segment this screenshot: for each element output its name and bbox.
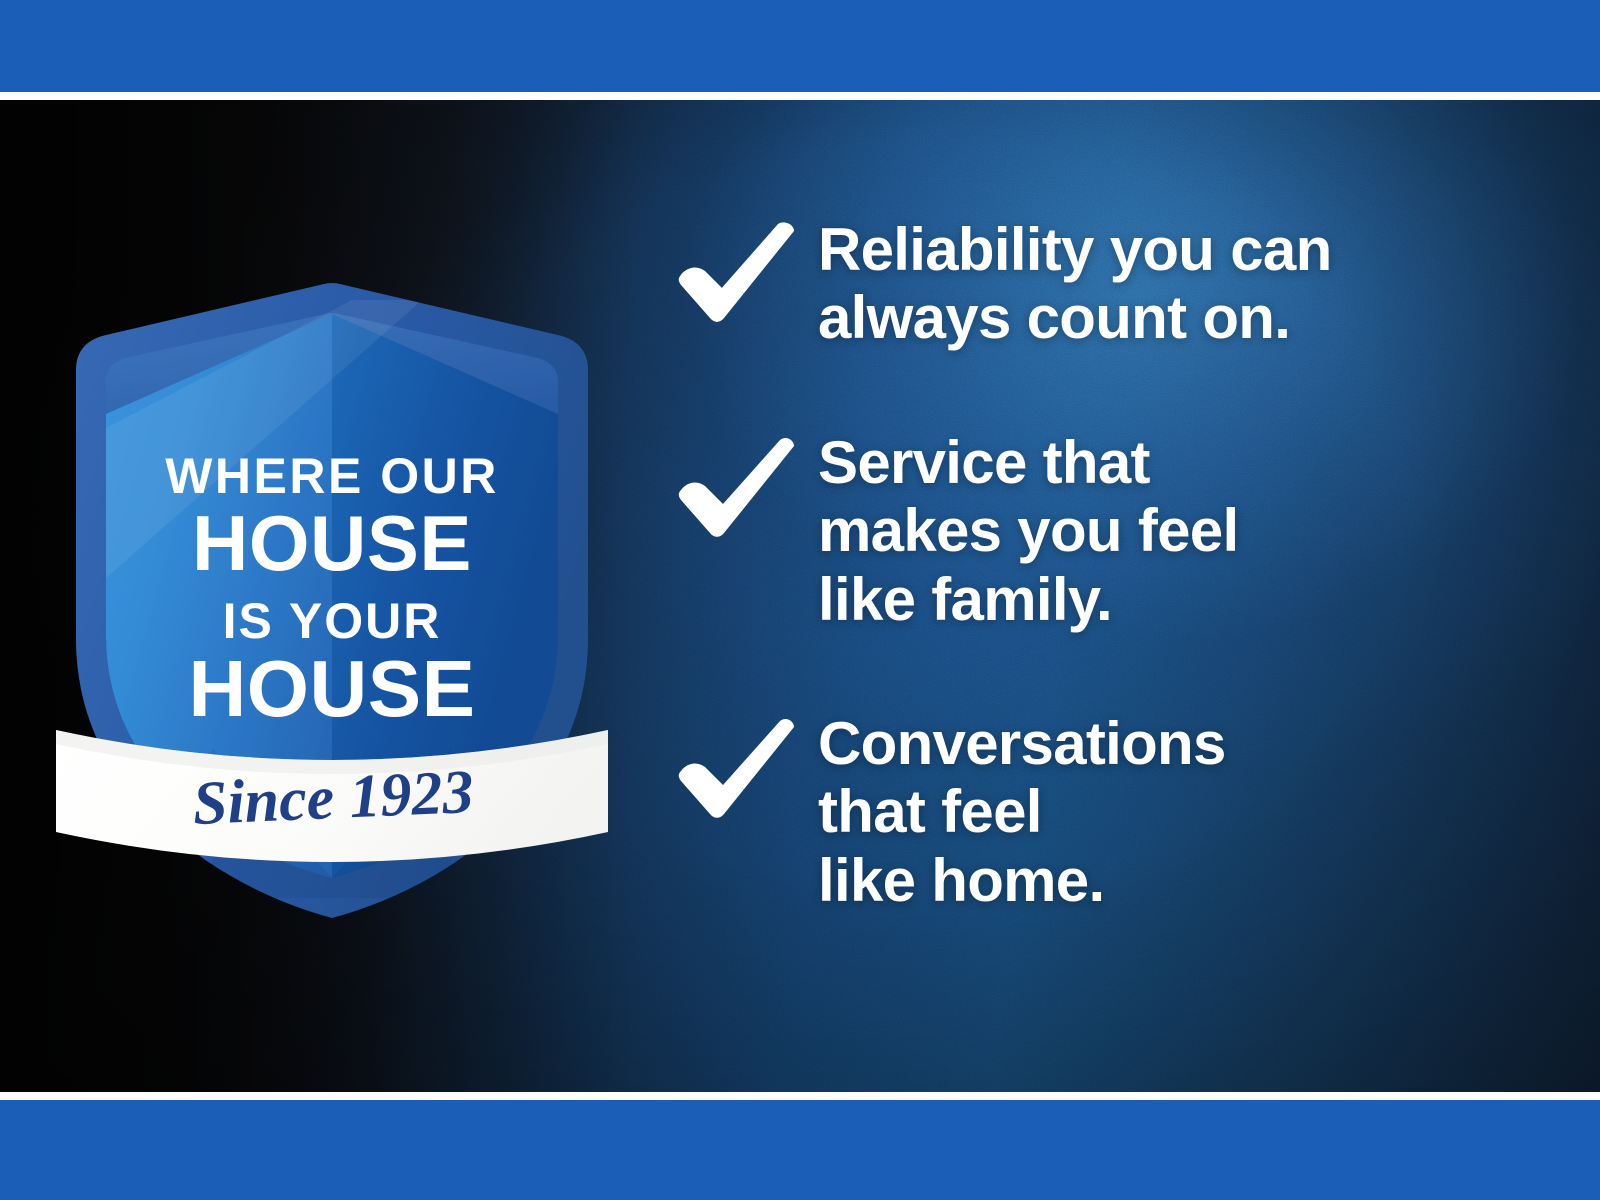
- list-item-label: Service that makes you feel like family.: [818, 427, 1238, 634]
- poster-canvas: WHERE OUR HOUSE IS YOUR HOUSE Since 1923: [0, 100, 1600, 1092]
- top-bar-divider: [0, 92, 1600, 100]
- shield-line-1: WHERE OUR: [165, 448, 499, 504]
- list-item-label: Reliability you can always count on.: [818, 212, 1332, 353]
- list-item: Conversations that feel like home.: [672, 708, 1572, 915]
- top-brand-bar: [0, 0, 1600, 92]
- checkmark-icon: [672, 714, 800, 826]
- list-item: Service that makes you feel like family.: [672, 427, 1572, 634]
- shield-line-3: IS YOUR: [223, 593, 442, 649]
- shield-ribbon-text: Since 1923: [191, 758, 474, 838]
- bottom-brand-bar: [0, 1100, 1600, 1200]
- shield-line-4: HOUSE: [189, 644, 476, 733]
- list-item-label: Conversations that feel like home.: [818, 708, 1226, 915]
- list-item: Reliability you can always count on.: [672, 212, 1572, 353]
- benefits-list: Reliability you can always count on. Ser…: [672, 212, 1572, 915]
- bottom-bar-divider: [0, 1092, 1600, 1100]
- promo-poster: WHERE OUR HOUSE IS YOUR HOUSE Since 1923: [0, 0, 1600, 1200]
- shield-line-2: HOUSE: [192, 499, 472, 587]
- heritage-shield-badge: WHERE OUR HOUSE IS YOUR HOUSE Since 1923: [62, 278, 602, 918]
- checkmark-icon: [672, 433, 800, 545]
- checkmark-icon: [672, 218, 800, 330]
